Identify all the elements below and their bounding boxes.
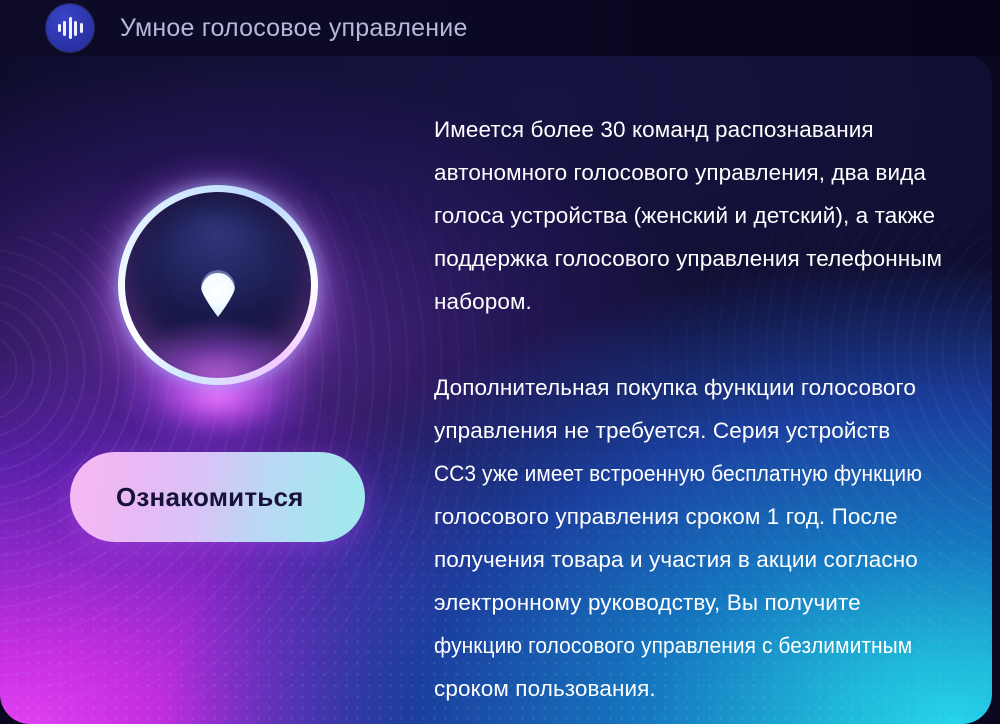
description-column: Имеется более 30 команд распознавания ав… — [434, 108, 964, 710]
voice-assistant-orb — [118, 185, 318, 385]
learn-more-button[interactable]: Ознакомиться — [70, 452, 365, 542]
paragraph-2-line-3: CC3 уже имеет встроенную бесплатную функ… — [434, 452, 922, 495]
paragraph-2-line-7: функцию голосового управления с безлимит… — [434, 624, 912, 667]
promo-screen: Умное голосовое управление Ознакомиться … — [0, 0, 1000, 724]
paragraph-2-line-6: электронному руководству, Вы получите — [434, 590, 861, 615]
paragraph-1: Имеется более 30 команд распознавания ав… — [434, 108, 964, 323]
paragraph-2-line-1: Дополнительная покупка функции голосовог… — [434, 375, 916, 400]
sound-bars — [58, 17, 83, 39]
paragraph-2-line-5: получения товара и участия в акции согла… — [434, 547, 918, 572]
paragraph-2-line-8: сроком пользования. — [434, 676, 656, 701]
paragraph-2-line-4: голосового управления сроком 1 год. Посл… — [434, 504, 898, 529]
voice-wave-icon — [46, 4, 94, 52]
learn-more-button-label: Ознакомиться — [116, 482, 304, 513]
page-title: Умное голосовое управление — [120, 14, 468, 43]
paragraph-2-line-2: управления не требуется. Серия устройств — [434, 418, 890, 443]
paragraph-2: Дополнительная покупка функции голосовог… — [434, 366, 964, 710]
header: Умное голосовое управление — [0, 0, 1000, 56]
